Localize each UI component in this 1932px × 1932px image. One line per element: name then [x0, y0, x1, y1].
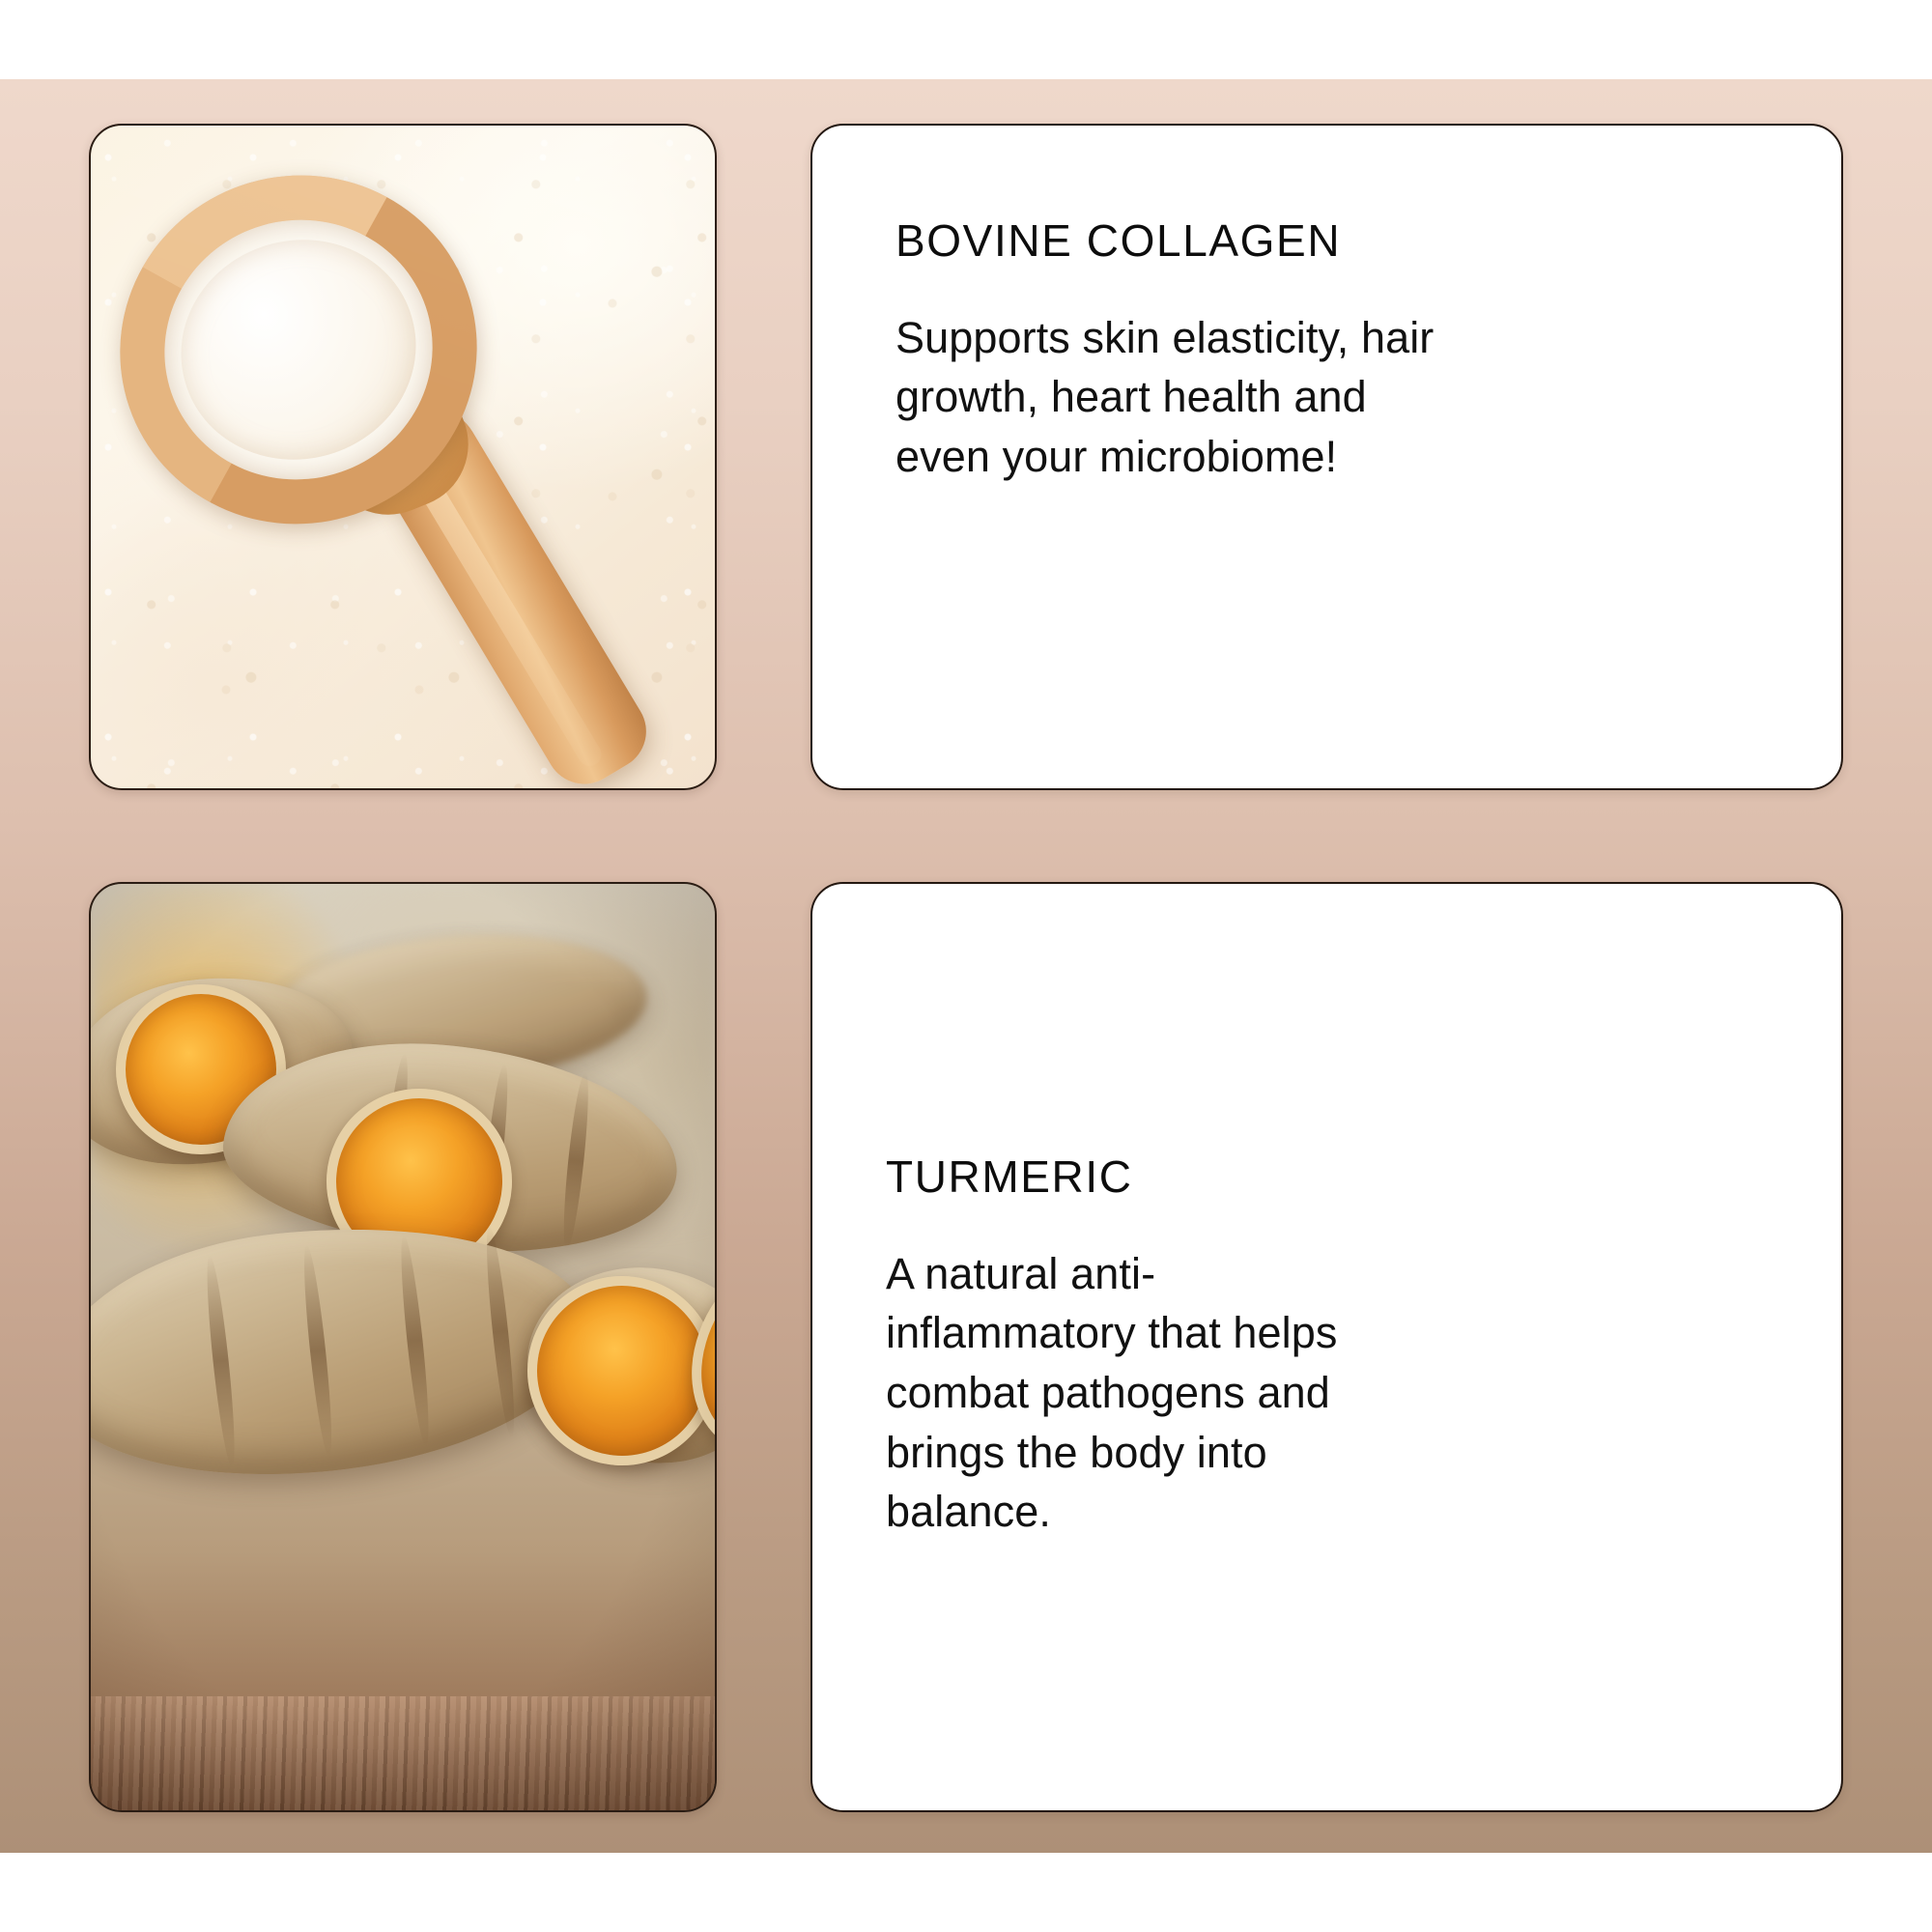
- wooden-table-surface: [91, 1696, 715, 1810]
- ingredient-card-grid: BOVINE COLLAGEN Supports skin elasticity…: [89, 124, 1843, 1812]
- turmeric-text-card: TURMERIC A natural anti-inflammatory tha…: [810, 882, 1843, 1812]
- collagen-heading: BOVINE COLLAGEN: [895, 216, 1841, 266]
- turmeric-image-card: [89, 882, 717, 1812]
- collagen-image-card: [89, 124, 717, 790]
- turmeric-body-text: A natural anti-inflammatory that helps c…: [886, 1244, 1388, 1542]
- turmeric-heading: TURMERIC: [886, 1152, 1841, 1202]
- collagen-text-card: BOVINE COLLAGEN Supports skin elasticity…: [810, 124, 1843, 790]
- page-root: BOVINE COLLAGEN Supports skin elasticity…: [0, 0, 1932, 1932]
- collagen-body-text: Supports skin elasticity, hair growth, h…: [895, 308, 1436, 487]
